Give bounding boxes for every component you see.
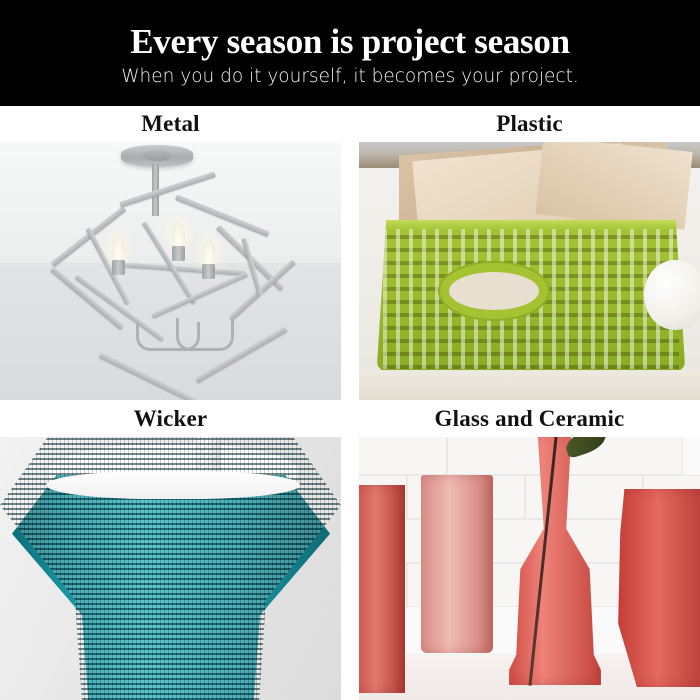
cardboard-item [535, 142, 692, 230]
category-label-glass-and-ceramic: Glass and Ceramic [359, 401, 700, 437]
glass-cylinder-vase [421, 475, 493, 653]
category-cell-plastic[interactable]: Plastic [359, 106, 700, 400]
geometric-cage [48, 166, 298, 394]
subheadline: When you do it yourself, it becomes your… [121, 66, 579, 88]
category-image-glass-and-ceramic[interactable] [359, 437, 700, 700]
category-cell-metal[interactable]: Metal [0, 106, 341, 400]
white-sphere [644, 260, 700, 330]
lower-shelf [359, 370, 700, 400]
headline: Every season is project season [130, 23, 570, 61]
category-grid: Metal [0, 106, 700, 700]
category-label-metal: Metal [0, 106, 341, 142]
category-label-plastic: Plastic [359, 106, 700, 142]
plastic-basket [377, 220, 685, 385]
stool-top-rim [46, 471, 300, 499]
category-label-wicker: Wicker [0, 401, 341, 437]
category-cell-glass-and-ceramic[interactable]: Glass and Ceramic [359, 401, 700, 700]
category-image-metal[interactable] [0, 142, 341, 400]
subway-tile [359, 437, 447, 475]
category-image-wicker[interactable] [0, 437, 341, 700]
banner-header: Every season is project season When you … [0, 0, 700, 106]
basket-handle-cutout [449, 272, 539, 310]
category-image-plastic[interactable] [359, 142, 700, 400]
promo-banner: Every season is project season When you … [0, 0, 700, 700]
category-cell-wicker[interactable]: Wicker [0, 401, 341, 700]
glass-vase [359, 485, 405, 693]
